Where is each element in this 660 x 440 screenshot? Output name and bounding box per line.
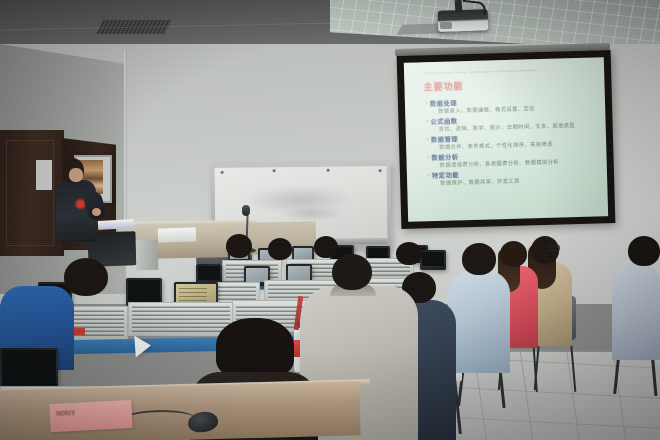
eyeglasses-icon [548, 245, 560, 251]
audience-member-body [448, 271, 510, 373]
audience-member-head-left [64, 258, 108, 296]
classroom-photo: OFFICE Application Training · Data Manag… [0, 0, 660, 440]
podium-papers [98, 219, 134, 230]
folded-paper-marker [134, 334, 151, 357]
projector-lens [440, 22, 452, 29]
screen-glare [404, 57, 608, 222]
projection-screen: OFFICE Application Training · Data Manag… [404, 57, 608, 222]
audience-head [268, 238, 292, 260]
audience-head [314, 236, 338, 258]
presenter-face [69, 168, 83, 182]
podium-computer-tower [136, 240, 159, 270]
whiteboard-magnet [379, 169, 382, 172]
whiteboard-magnet [221, 171, 224, 174]
presenter-hand [92, 208, 101, 216]
workstation-monitor [196, 264, 222, 284]
whiteboard-erased-marks-2 [279, 207, 345, 222]
audience-head [226, 234, 252, 258]
projection-screen-frame: OFFICE Application Training · Data Manag… [397, 50, 616, 229]
audience-member-head [628, 236, 660, 266]
posted-paper-notice [36, 160, 52, 190]
red-desk-tag [74, 328, 85, 335]
audience-member-body [612, 262, 660, 360]
workstation-monitor [420, 250, 446, 270]
whiteboard-magnet [327, 169, 330, 172]
foreground-person-head [216, 318, 294, 378]
desk-divider [128, 302, 234, 336]
audience-member-head [500, 241, 527, 267]
audience-member-head-foreground [332, 254, 372, 290]
whiteboard-magnet [273, 169, 276, 172]
audience-member-head [462, 243, 496, 275]
microphone-icon [242, 205, 250, 216]
podium-notes [158, 227, 196, 242]
audience-head [396, 242, 422, 265]
door-panel [6, 140, 54, 246]
